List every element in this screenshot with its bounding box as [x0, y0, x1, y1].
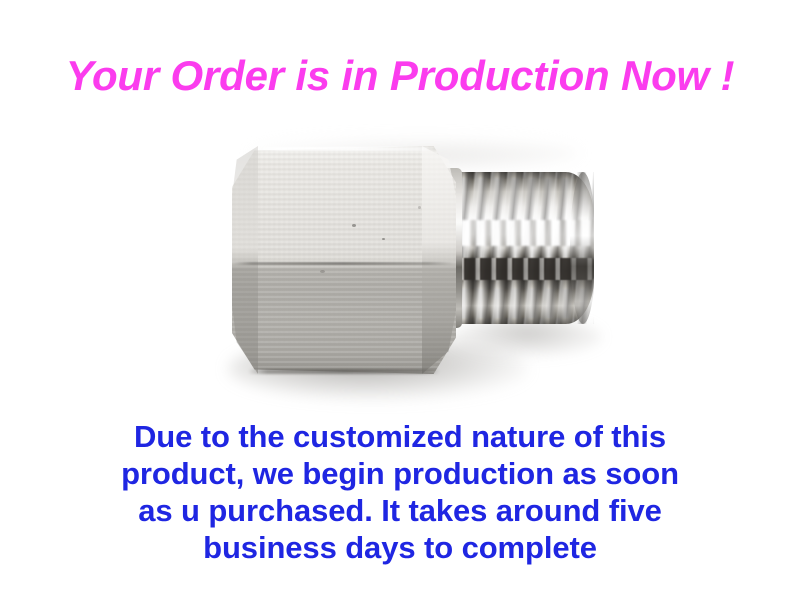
notice-line: Due to the customized nature of this [0, 418, 800, 455]
hex-nut-body [232, 146, 456, 374]
hex-left-chamfer [232, 146, 258, 374]
surface-blemish [382, 238, 385, 240]
hex-top-rim [252, 147, 438, 151]
hex-bottom-edge [248, 369, 440, 374]
surface-blemish [352, 224, 356, 227]
promo-banner: Your Order is in Production Now ! [0, 0, 800, 600]
male-threaded-end [446, 172, 594, 324]
page-title: Your Order is in Production Now ! [0, 53, 800, 99]
surface-blemish [320, 270, 325, 273]
notice-line: as u purchased. It takes around five [0, 492, 800, 529]
surface-blemish [418, 206, 421, 209]
thread-end-cap [570, 172, 594, 324]
production-notice: Due to the customized nature of this pro… [0, 418, 800, 566]
notice-line: business days to complete [0, 529, 800, 566]
notice-line: product, we begin production as soon [0, 455, 800, 492]
hex-facet-edge [234, 262, 454, 265]
product-photo [0, 110, 800, 410]
